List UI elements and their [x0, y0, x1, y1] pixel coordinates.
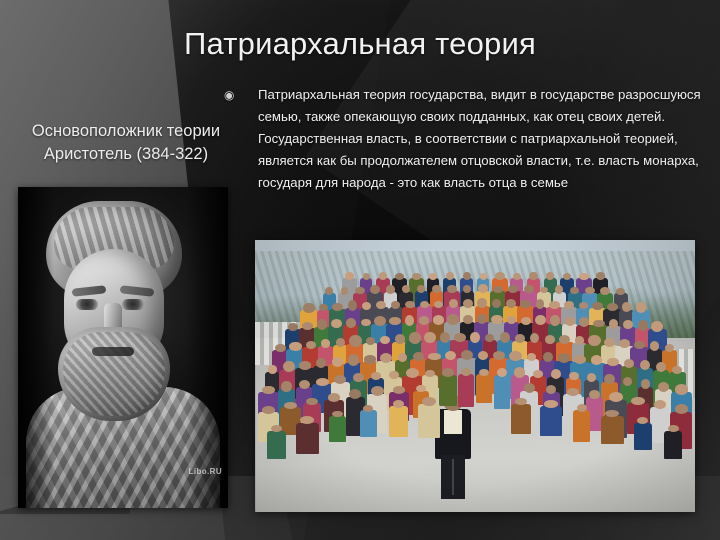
photo-person: [296, 423, 319, 454]
photo-person-head: [379, 272, 387, 279]
photo-person-head: [429, 273, 436, 280]
photo-person: [439, 375, 458, 406]
photo-person-head: [638, 320, 648, 330]
photo-person-head: [600, 287, 610, 295]
photo-person-head: [366, 337, 375, 345]
photo-person-head: [316, 378, 329, 386]
photo-person-head: [675, 384, 688, 394]
photo-person-head: [565, 317, 575, 326]
large-family-photo: [255, 240, 695, 512]
photo-person-head: [262, 386, 275, 395]
photo-person-head: [641, 379, 651, 389]
photo-person-head: [569, 372, 579, 381]
photo-person-head: [306, 341, 316, 349]
photo-person: [458, 374, 475, 406]
photo-person-head: [412, 273, 422, 280]
photo-person-head: [500, 332, 510, 343]
photo-person-head: [506, 299, 516, 308]
bust-shadow-left: [18, 187, 54, 508]
photo-person-head: [386, 285, 394, 293]
photo-person: [360, 410, 377, 436]
photo-person-head: [616, 288, 625, 295]
photo-person-head: [398, 353, 407, 362]
photo-person: [389, 406, 407, 437]
photo-person-head: [622, 302, 631, 312]
photo-person-head: [389, 371, 399, 380]
photo-person-head: [480, 273, 487, 279]
photo-person-head: [636, 302, 647, 312]
photo-person-head: [353, 373, 363, 382]
photo-person: [494, 375, 509, 410]
photo-person-head: [346, 318, 356, 327]
photo-person-head: [513, 273, 521, 280]
photo-person-head: [493, 286, 504, 293]
photo-person-head: [479, 369, 489, 376]
photo-person-head: [579, 273, 589, 279]
photo-person-head: [529, 272, 538, 280]
photo-person-head: [284, 402, 297, 409]
photo-person-head: [497, 368, 507, 377]
photo-person-head: [433, 315, 445, 325]
photo-person-head: [420, 301, 429, 308]
photo-person-head: [623, 320, 633, 330]
photo-person-head: [470, 332, 479, 343]
photo-person-head: [406, 368, 419, 378]
photo-person-head: [672, 366, 682, 374]
photo-person-head: [447, 314, 459, 324]
photo-person-head: [463, 299, 473, 308]
photo-person-head: [440, 332, 450, 342]
photo-person-head: [570, 287, 579, 294]
photo-person-head: [275, 344, 285, 352]
photo-person-head: [442, 368, 454, 376]
photo-person-head: [515, 334, 525, 342]
photo-person-head: [640, 360, 650, 370]
photo-person-head: [604, 374, 614, 384]
photo-person-head: [609, 319, 618, 329]
photo-person-head: [604, 338, 615, 347]
aristotle-bust-image: Libo.RU: [18, 187, 228, 508]
photo-person-head: [596, 272, 605, 280]
photo-person-head: [563, 273, 571, 280]
photo-person-head: [549, 301, 559, 309]
photo-person-head: [336, 338, 345, 346]
photo-person-head: [463, 315, 473, 325]
slide-title: Патриархальная теория: [0, 24, 720, 64]
photo-person-head: [567, 388, 579, 396]
photo-person-head: [289, 342, 301, 350]
photo-person: [601, 416, 624, 444]
photo-person-head: [624, 359, 634, 368]
bust-eye-left: [76, 299, 98, 310]
bust-mouth: [92, 347, 134, 356]
photo-person-head: [391, 301, 400, 308]
photo-person-head: [585, 287, 595, 294]
photo-person-head: [422, 397, 436, 406]
photo-person-head: [413, 352, 424, 361]
photo-person-head: [432, 285, 440, 293]
photo-person-head: [509, 351, 521, 361]
aristotle-caption: Основоположник теории Аристотель (384-32…: [6, 120, 246, 166]
photo-person-head: [545, 335, 555, 344]
photo-person-head: [665, 344, 674, 352]
photo-person-head: [348, 300, 357, 311]
photo-person-head: [656, 362, 666, 372]
photo-person-head: [405, 315, 414, 326]
photo-person-head: [349, 335, 361, 347]
photo-person-head: [303, 303, 314, 313]
photo-person-head: [281, 381, 291, 391]
photo-person-head: [536, 299, 545, 309]
photo-person-head: [650, 341, 659, 350]
photo-person-head: [521, 317, 531, 325]
photo-person-head: [495, 272, 505, 280]
photo-person: [476, 374, 492, 403]
photo-person-head: [332, 357, 343, 366]
bust-watermark: Libo.RU: [189, 467, 222, 476]
photo-person-head: [317, 319, 327, 329]
photo-person-head: [362, 302, 371, 310]
photo-person-head: [447, 285, 457, 294]
bust-eye-right: [122, 299, 144, 310]
photo-person: [664, 431, 682, 460]
photo-person-head: [348, 354, 359, 365]
photo-person-head: [434, 301, 443, 308]
photo-person-head: [449, 299, 458, 308]
photo-person-head: [299, 361, 311, 369]
body-bullet-item: ◉ Патриархальная теория государства, вид…: [222, 84, 714, 194]
bullet-point-icon: ◉: [222, 84, 258, 106]
photo-person-head: [419, 316, 429, 324]
photo-person-head: [491, 315, 502, 325]
photo-person: [329, 416, 346, 442]
photo-person-head: [306, 398, 318, 406]
photo-person-head: [361, 319, 371, 327]
photo-person-head: [589, 390, 599, 399]
body-paragraph: Патриархальная теория государства, видит…: [258, 84, 714, 194]
photo-person: [418, 404, 440, 438]
photo-person-head: [405, 301, 415, 309]
photo-person-head: [533, 370, 543, 378]
photo-person-head: [364, 355, 376, 363]
photo-person-head: [492, 299, 501, 308]
photo-person-head: [268, 365, 278, 373]
bust-shadow-right: [186, 187, 228, 508]
photo-person: [634, 423, 652, 450]
photo-person-head: [395, 334, 405, 343]
photo-person-head: [395, 273, 405, 280]
photo-person-head: [651, 321, 663, 332]
photo-person-head: [607, 303, 618, 311]
photo-person-head: [416, 385, 426, 392]
photo-person-head: [658, 382, 669, 392]
photo-person-head: [564, 301, 574, 310]
photo-person-head: [363, 273, 370, 279]
photo-person-head: [380, 353, 392, 363]
photo-person-head: [288, 323, 298, 331]
photo-person-head: [631, 397, 644, 405]
photo-person-head: [593, 320, 605, 328]
photo-person-head: [550, 315, 559, 326]
photo-person-head: [328, 393, 340, 401]
photo-person-head: [302, 322, 313, 330]
photo-person: [511, 404, 531, 434]
photo-person-head: [543, 352, 553, 362]
photo-person-head: [319, 304, 327, 312]
photo-person: [573, 410, 590, 442]
photo-person: [540, 406, 562, 436]
photo-person-head: [409, 332, 421, 343]
photo-person: [267, 431, 286, 460]
photo-person-head: [607, 358, 619, 367]
photo-person-head: [283, 361, 295, 372]
bust-beard: [58, 327, 170, 421]
photo-person-head: [524, 383, 535, 393]
photo-person-head: [332, 303, 343, 311]
photo-person-head: [355, 287, 364, 294]
photo-person-head: [514, 367, 525, 378]
photo-person-head: [478, 284, 488, 293]
photo-person-head: [463, 272, 471, 280]
photo-person-head: [393, 386, 405, 394]
photo-person-head: [262, 406, 275, 414]
photo-person-head: [425, 370, 435, 377]
photo-person-head: [446, 272, 454, 280]
photo-person-head: [341, 287, 349, 294]
photo-person-head: [477, 298, 487, 308]
presentation-slide: Патриархальная теория Основоположник тео…: [0, 0, 720, 540]
photo-person-head: [428, 353, 440, 361]
photo-person-head: [299, 380, 310, 389]
photo-person-head: [345, 272, 354, 280]
